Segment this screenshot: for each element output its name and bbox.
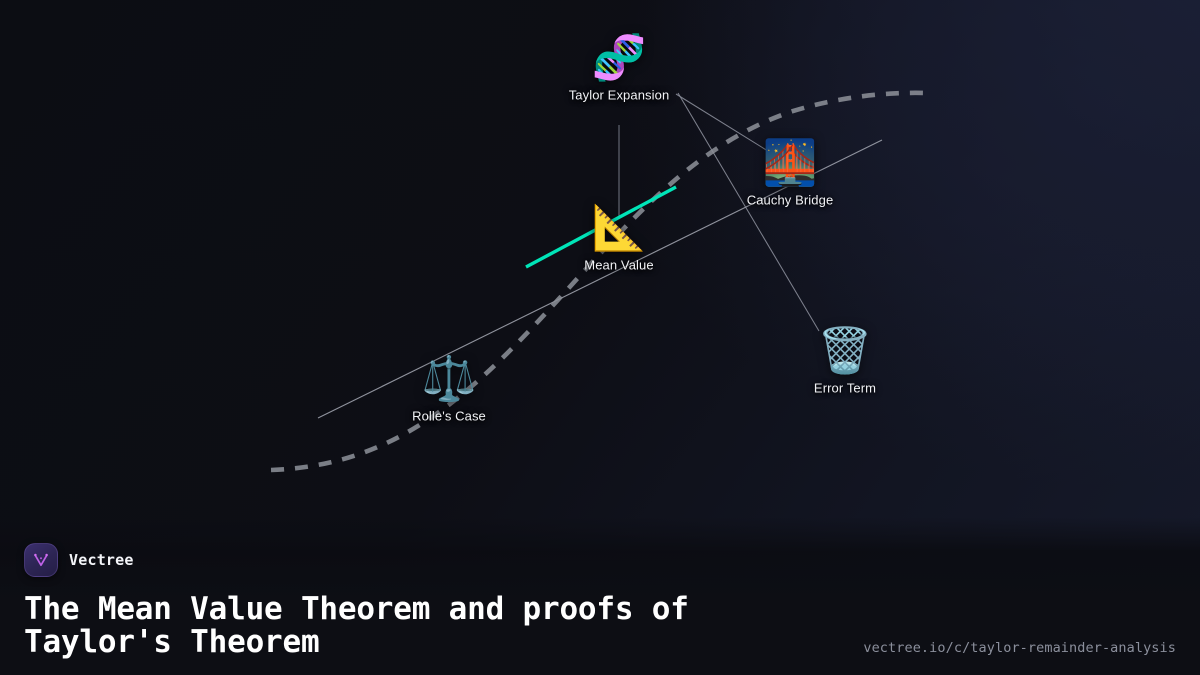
vectree-v-logo-icon [24,543,58,577]
graph-node-label: Mean Value [584,258,653,273]
graph-node-label: Taylor Expansion [569,88,670,103]
page-title: The Mean Value Theorem and proofs of Tay… [24,593,824,660]
page-title-line-1: The Mean Value Theorem and proofs of [24,593,824,626]
graph-node-rolles-case[interactable]: ⚖️ Rolle's Case [412,355,486,424]
share-card: 🧬 Taylor Expansion 🌉 Cauchy Bridge 📐 Mea… [0,0,1200,675]
site-url[interactable]: vectree.io/c/taylor-remainder-analysis [863,640,1176,656]
brand[interactable]: Vectree [24,543,1176,577]
bridge-night-icon: 🌉 [763,139,818,189]
footer: Vectree The Mean Value Theorem and proof… [0,517,1200,675]
graph-node-label: Rolle's Case [412,409,486,424]
graph-node-mean-value[interactable]: 📐 Mean Value [584,204,653,273]
graph-node-cauchy-bridge[interactable]: 🌉 Cauchy Bridge [747,139,834,208]
page-title-line-2: Taylor's Theorem [24,626,824,659]
brand-name: Vectree [69,551,134,569]
triangular-ruler-icon: 📐 [592,204,647,254]
graph-node-taylor-expansion[interactable]: 🧬 Taylor Expansion [569,34,670,103]
vectree-v-glyph [31,550,51,570]
dna-icon: 🧬 [592,34,647,84]
wastebasket-icon: 🗑️ [818,327,873,377]
graph-node-label: Cauchy Bridge [747,193,834,208]
graph-node-label: Error Term [814,381,876,396]
graph-node-error-term[interactable]: 🗑️ Error Term [814,327,876,396]
balance-scale-icon: ⚖️ [422,355,477,405]
